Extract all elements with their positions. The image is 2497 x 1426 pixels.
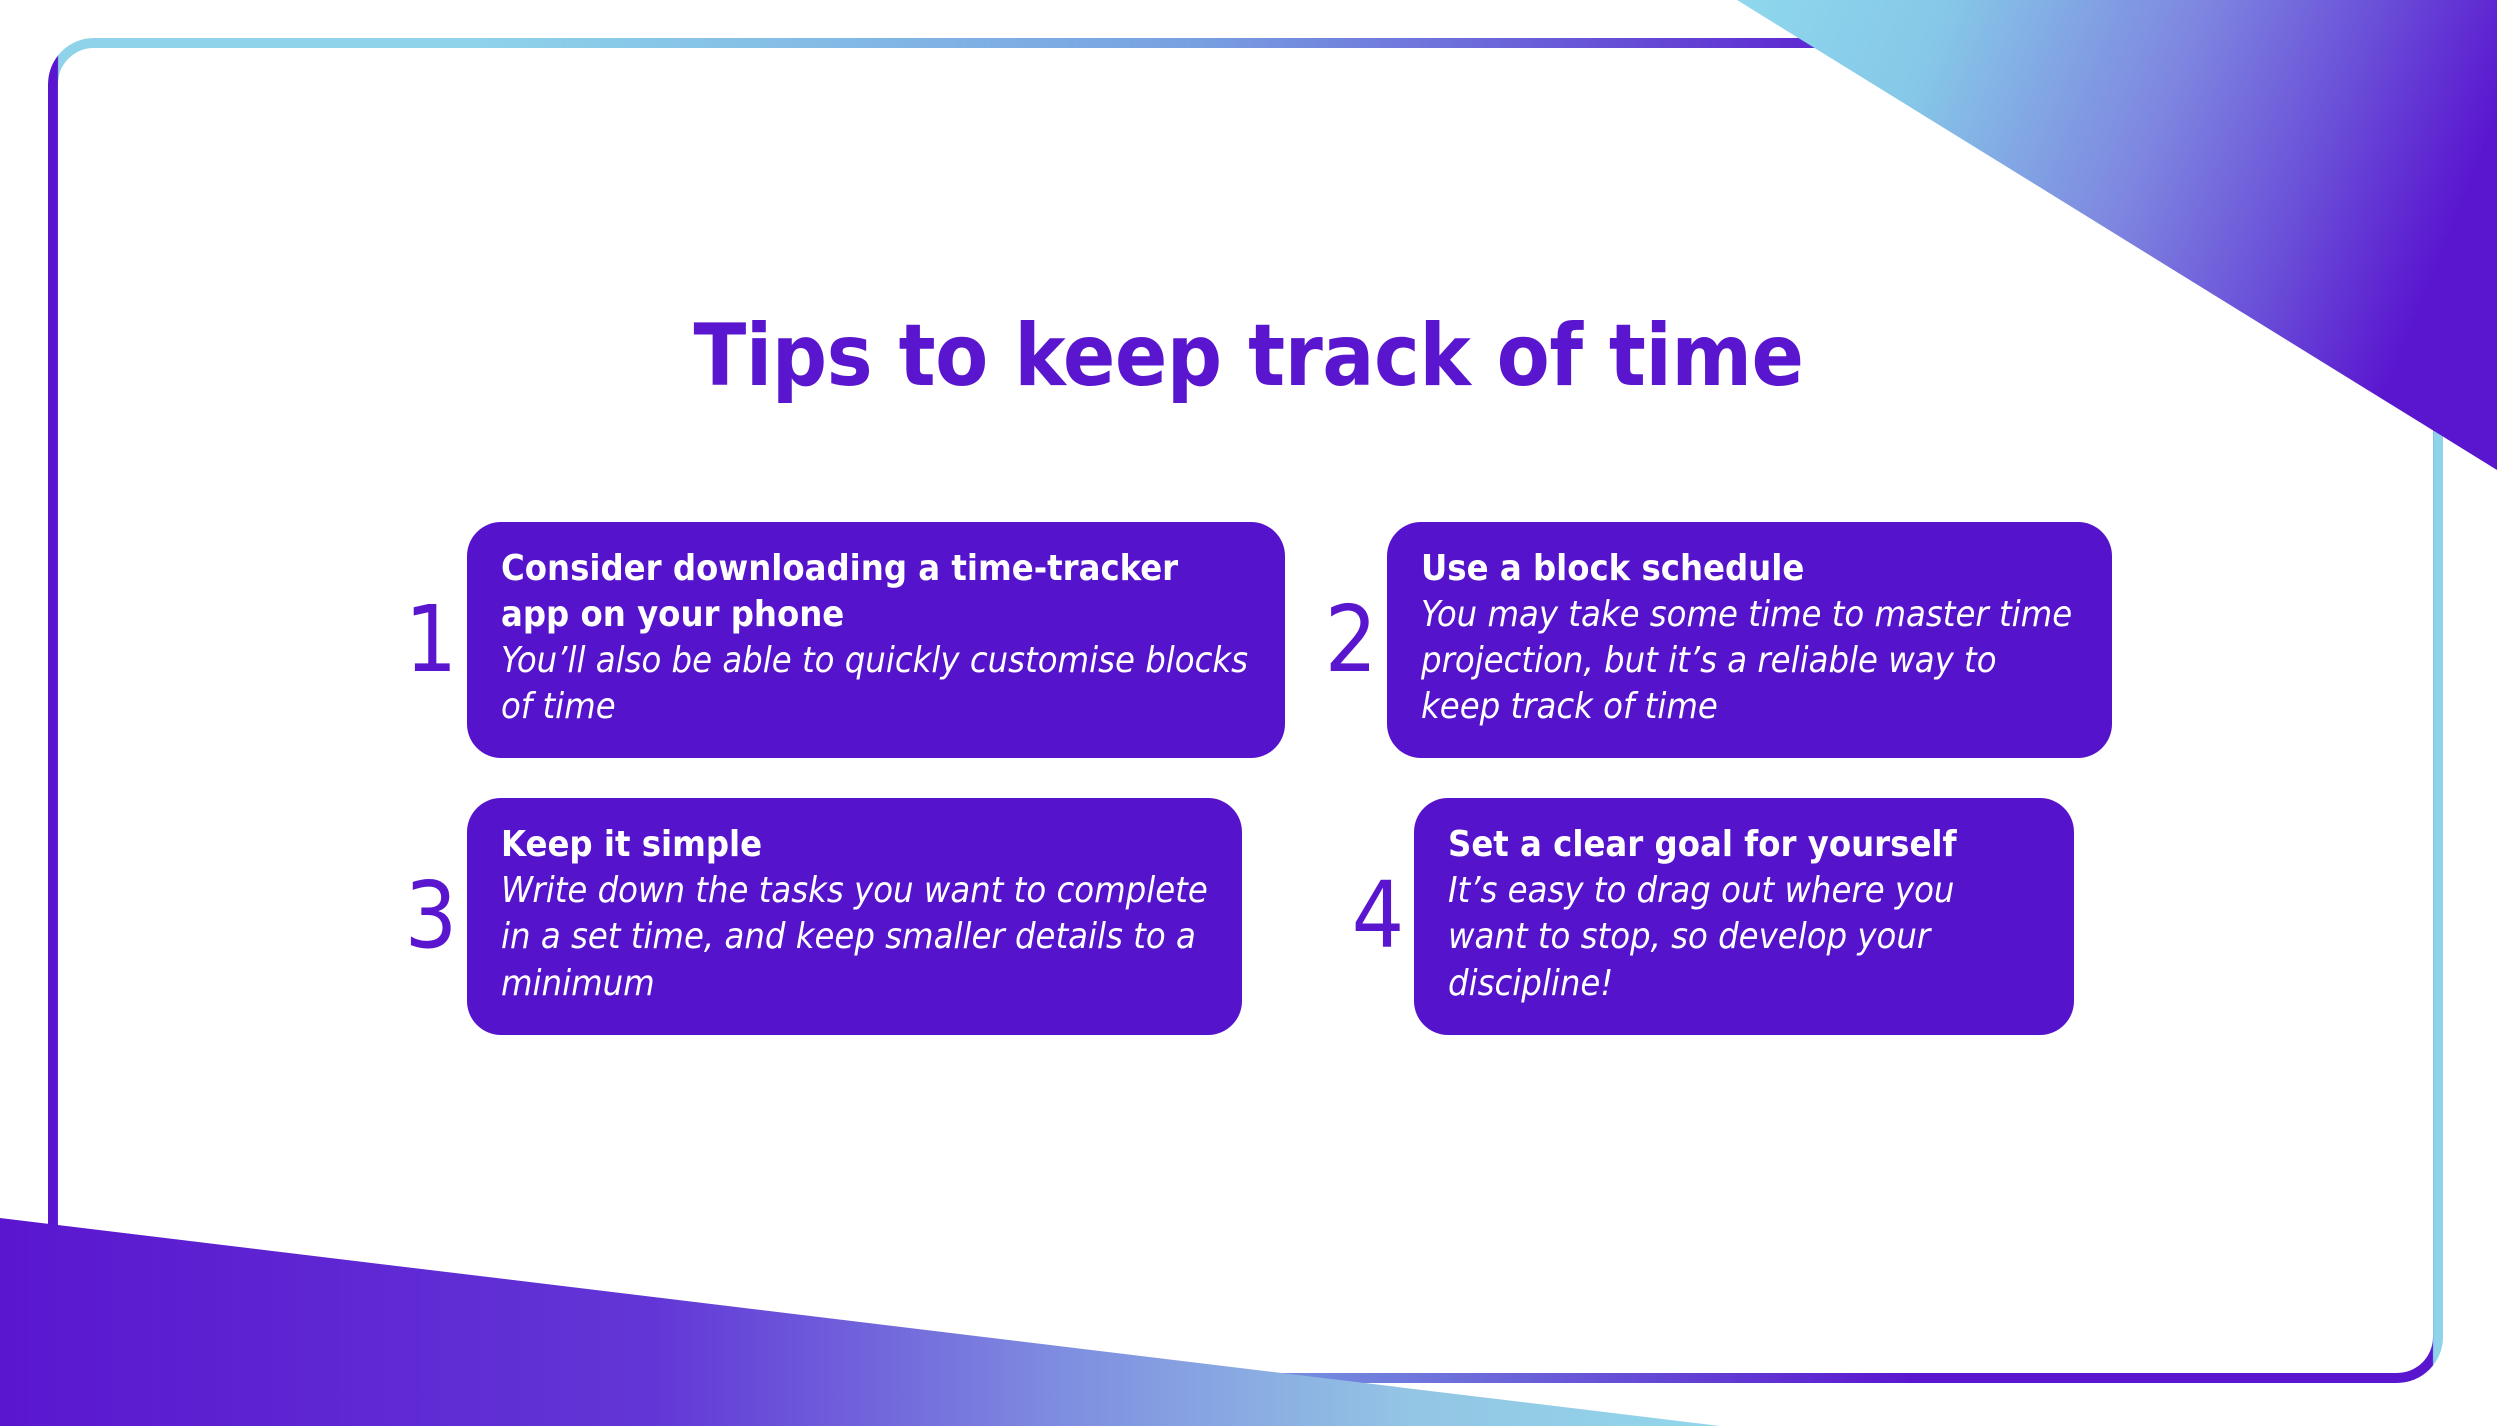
tip-card-1-body[interactable]: Consider downloading a time-tracker app … [467,522,1285,758]
tip-heading-2: Use a block schedule [1421,546,2078,592]
tip-card-1[interactable]: 1 Consider downloading a time-tracker ap… [395,522,1285,758]
tip-description-3: Write down the tasks you want to complet… [501,868,1208,1006]
tip-number-3: 3 [395,870,467,962]
tip-card-2-body[interactable]: Use a block schedule You may take some t… [1387,522,2112,758]
tip-heading-3: Keep it simple [501,822,1208,868]
tip-card-4-body[interactable]: Set a clear goal for yourself It’s easy … [1414,798,2074,1034]
tip-card-3[interactable]: 3 Keep it simple Write down the tasks yo… [395,798,1242,1034]
tip-description-4: It’s easy to drag out where you want to … [1448,868,2040,1006]
tip-heading-4: Set a clear goal for yourself [1448,822,2040,868]
tip-number-4: 4 [1342,870,1414,962]
tip-number-2: 2 [1315,594,1387,686]
tip-description-2: You may take some time to master time pr… [1421,592,2078,730]
tips-row-2: 3 Keep it simple Write down the tasks yo… [395,798,2155,1034]
tip-heading-1: Consider downloading a time-tracker app … [501,546,1251,638]
page-title: Tips to keep track of time [0,306,2497,406]
tip-description-1: You’ll also be able to quickly customise… [501,638,1251,730]
tip-card-2[interactable]: 2 Use a block schedule You may take some… [1315,522,2112,758]
tips-row-1: 1 Consider downloading a time-tracker ap… [395,522,2155,758]
tip-card-3-body[interactable]: Keep it simple Write down the tasks you … [467,798,1242,1034]
tip-number-1: 1 [395,594,467,686]
slide-canvas: Tips to keep track of time 1 Consider do… [0,0,2497,1426]
tips-grid: 1 Consider downloading a time-tracker ap… [395,522,2155,1035]
tip-card-4[interactable]: 4 Set a clear goal for yourself It’s eas… [1342,798,2074,1034]
bottom-left-decoration-icon [0,1096,1720,1426]
